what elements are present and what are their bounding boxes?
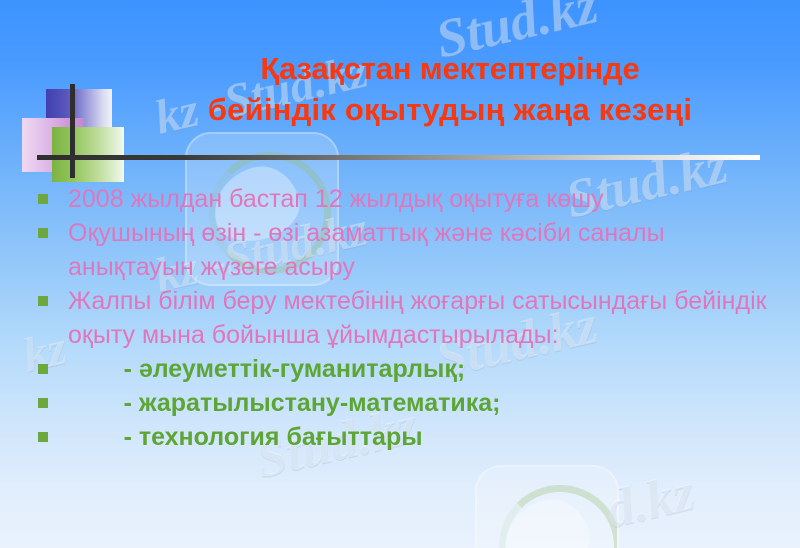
slide-title-line-2: бейіндік оқытудың жаңа кезеңі: [120, 89, 780, 130]
list-item-label: - технология бағыттары: [68, 420, 423, 454]
horizontal-rule: [37, 155, 760, 160]
watermark-text: d.kz: [600, 460, 700, 540]
list-item: - жаратылыстану-математика;: [0, 386, 800, 420]
presentation-slide: Stud.kzkz -Stud.kzStud.kzkz -Stud.kzStud…: [0, 0, 800, 548]
slide-title-line-1: Қазақстан мектептерінде: [120, 48, 780, 89]
slide-bullet-list: 2008 жылдан бастап 12 жылдық оқытуға көш…: [0, 182, 800, 454]
list-item: Оқушының өзін - өзі азаматтық және кәсіб…: [0, 216, 800, 284]
stud-kz-logo-watermark-2: [475, 465, 619, 548]
bullet-square-icon: [38, 432, 48, 442]
list-item: Жалпы білім беру мектебінің жоғарғы саты…: [0, 284, 800, 352]
bullet-square-icon: [38, 398, 48, 408]
list-item-label: Оқушының өзін - өзі азаматтық және кәсіб…: [68, 216, 768, 284]
vertical-rule: [70, 84, 75, 178]
list-item-label: Жалпы білім беру мектебінің жоғарғы саты…: [68, 284, 768, 352]
list-item-label: - жаратылыстану-математика;: [68, 386, 500, 420]
logo-ring: [499, 485, 619, 548]
list-item-label: - әлеуметтік-гуманитарлық;: [68, 352, 465, 386]
bullet-square-icon: [38, 228, 48, 238]
slide-title: Қазақстан мектептерінде бейіндік оқытуды…: [120, 48, 780, 130]
list-item: 2008 жылдан бастап 12 жылдық оқытуға көш…: [0, 182, 800, 216]
list-item-label: 2008 жылдан бастап 12 жылдық оқытуға көш…: [68, 182, 604, 216]
bullet-square-icon: [38, 296, 48, 306]
bullet-square-icon: [38, 194, 48, 204]
bullet-square-icon: [38, 364, 48, 374]
list-item: - технология бағыттары: [0, 420, 800, 454]
logo-swoosh: [496, 492, 597, 548]
list-item: - әлеуметтік-гуманитарлық;: [0, 352, 800, 386]
